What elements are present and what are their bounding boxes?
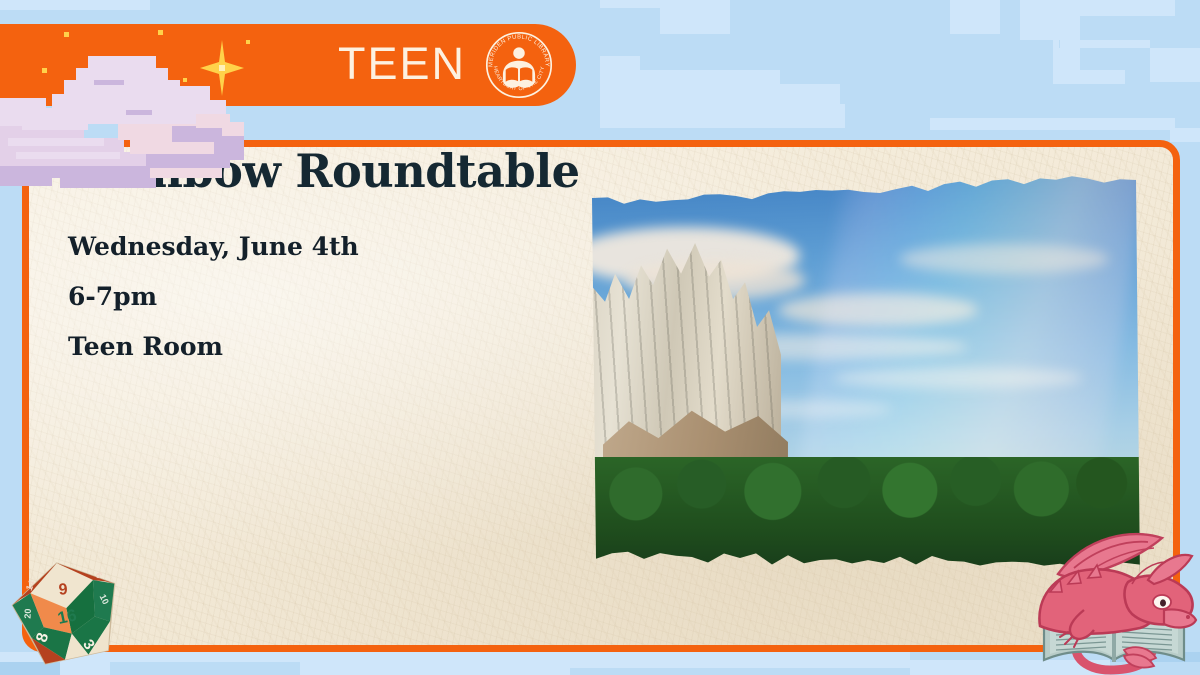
event-location: Teen Room	[68, 334, 595, 359]
banner-title: TEEN	[338, 41, 466, 89]
sparkle-dot-icon	[246, 40, 250, 44]
sky-pixel-block	[600, 104, 845, 128]
die-face-16: 16	[56, 605, 78, 628]
sparkle-dot-icon	[42, 68, 47, 73]
sparkle-dot-icon	[158, 30, 163, 35]
sky-pixel-block	[0, 0, 150, 10]
die-face-20: 20	[23, 608, 33, 618]
library-roundel-logo: MERIDEN PUBLIC LIBRARY HEARTBEAT OF THE …	[484, 30, 554, 100]
d20-die: 9 16 8 3 20 10 6 14	[8, 556, 128, 675]
sparkle-dot-icon	[64, 32, 69, 37]
sky-pixel-block	[300, 652, 570, 675]
person-reading-book-mark	[503, 47, 535, 87]
sky-pixel-block	[930, 118, 1175, 130]
sky-pixel-block	[950, 0, 1000, 34]
sky-pixel-block	[1053, 22, 1059, 84]
event-date: Wednesday, June 4th	[68, 234, 595, 259]
teen-banner: TEEN MERIDEN PUBLIC LIBRARY HEARTBEAT OF…	[0, 24, 576, 106]
dragon-on-book	[1028, 518, 1200, 675]
sky-pixel-block	[570, 652, 910, 668]
dragon-head	[1125, 555, 1196, 627]
sky-pixel-block	[660, 8, 730, 34]
sky-pixel-block	[1150, 48, 1200, 82]
sky-pixel-block	[1055, 0, 1175, 16]
event-text-block: Rainbow Roundtable Wednesday, June 4th 6…	[68, 148, 595, 359]
sky-pixel-block	[780, 84, 840, 104]
sky-pixel-block	[1060, 40, 1150, 48]
sky-pixel-block	[1170, 128, 1200, 142]
sky-pixel-block	[600, 0, 730, 8]
event-title: Rainbow Roundtable	[68, 148, 580, 194]
die-face-9: 9	[58, 581, 68, 599]
sky-pixel-block	[1055, 70, 1125, 84]
event-time: 6-7pm	[68, 284, 595, 309]
sky-pixel-block	[600, 70, 780, 104]
sparkle-dot-icon	[183, 78, 187, 82]
sky-pixel-block	[110, 652, 300, 662]
sparkle-star-icon	[200, 40, 244, 96]
